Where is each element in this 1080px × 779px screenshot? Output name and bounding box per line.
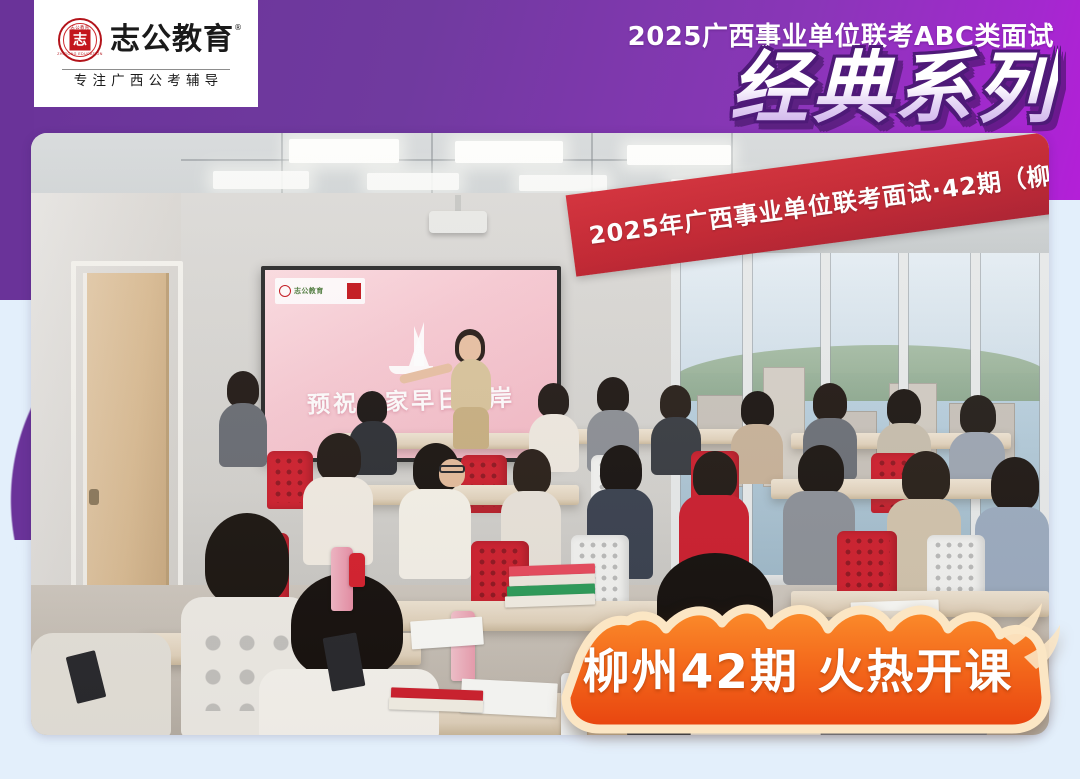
- brand-logo-row: 志公教育 志 ZHIGONG EDUCATION 志公教育®: [58, 18, 234, 62]
- seal-logo-icon: 志公教育 志 ZHIGONG EDUCATION: [58, 18, 102, 62]
- ceiling-light: [289, 139, 399, 163]
- student-hair: [513, 449, 551, 495]
- ceiling-light: [455, 141, 563, 163]
- student-torso: [219, 403, 267, 467]
- logo-divider: [62, 69, 230, 70]
- ceiling-grid-line: [181, 159, 701, 161]
- glasses-icon: [439, 465, 465, 473]
- student: [975, 457, 1049, 603]
- student-foreground: [31, 603, 171, 735]
- promo-banner-text: 柳州42期 火热开课: [546, 649, 1050, 696]
- student-hair: [597, 377, 629, 413]
- seal-bottom-text: ZHIGONG EDUCATION: [57, 52, 102, 56]
- student-hair: [902, 451, 950, 503]
- student: [217, 371, 269, 467]
- student-hair: [693, 451, 737, 499]
- student-hair: [887, 389, 921, 426]
- brand-name-text: 志公教育: [110, 22, 234, 57]
- promo-flame-banner[interactable]: 柳州42期 火热开课: [546, 601, 1064, 735]
- projection-screen: 志公教育 预祝大家早日上岸: [265, 270, 557, 458]
- ceiling-light: [627, 145, 731, 165]
- door-handle: [89, 489, 99, 505]
- student-hair: [991, 457, 1039, 511]
- sailboat-sail: [414, 326, 429, 366]
- student: [399, 443, 471, 577]
- student-hair: [798, 445, 844, 495]
- student-hair: [600, 445, 642, 493]
- seal-character: 志: [70, 30, 91, 51]
- student-hair: [741, 391, 774, 427]
- brand-name: 志公教育®: [110, 25, 234, 55]
- student-hair: [538, 383, 569, 417]
- student-hair: [357, 391, 387, 424]
- paper-sheet: [410, 617, 484, 650]
- student-hair: [960, 395, 996, 435]
- teacher: [443, 329, 499, 449]
- header-title: 经典系列: [730, 48, 1058, 131]
- desk: [551, 429, 741, 444]
- ceiling-light: [367, 173, 459, 190]
- cup: [349, 553, 365, 587]
- teacher-head: [459, 335, 481, 361]
- student: [303, 433, 373, 563]
- brand-logo-card[interactable]: 志公教育 志 ZHIGONG EDUCATION 志公教育® 专注广西公考辅导: [34, 0, 258, 107]
- slide-logo-mark-icon: [347, 283, 361, 299]
- projector: [429, 211, 487, 233]
- ceiling-light: [519, 175, 607, 191]
- student-torso: [399, 489, 471, 579]
- brand-tagline: 专注广西公考辅导: [69, 75, 224, 89]
- slide-logo-text: 志公教育: [294, 286, 324, 296]
- student-hair: [813, 383, 847, 421]
- slide-logo: 志公教育: [275, 278, 365, 304]
- student-hair: [227, 371, 259, 407]
- slide-logo-seal-icon: [279, 285, 291, 297]
- student-hair: [317, 433, 361, 481]
- student-head: [439, 459, 465, 487]
- poster-root: 志公教育 预祝大家早日上岸: [0, 0, 1080, 779]
- ceiling-light: [213, 171, 309, 189]
- registered-mark: ®: [234, 24, 243, 32]
- teacher-torso: [451, 359, 491, 411]
- student-hair: [660, 385, 691, 420]
